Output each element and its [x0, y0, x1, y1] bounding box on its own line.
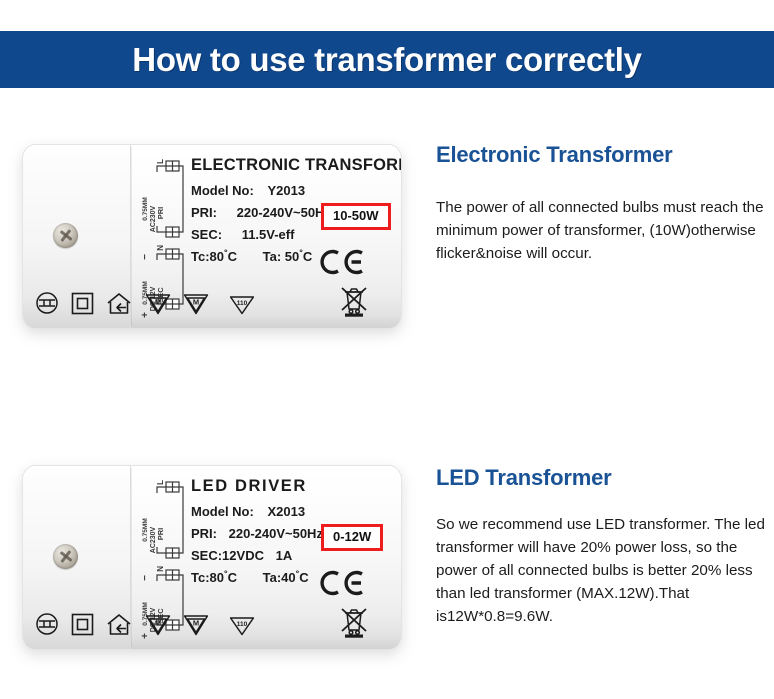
device-pri-value: 220-240V~50Hz [229, 527, 323, 540]
independent-mounting-110-icon: 110 [229, 616, 255, 641]
mounting-icon-mark: 110 [237, 621, 248, 628]
led-transformer-description-text: So we recommend use LED transformer. The… [436, 513, 774, 628]
mounting-screw [53, 544, 78, 569]
ce-mark-icon [318, 570, 370, 596]
device-sec-key: SEC: [191, 228, 222, 241]
device-casing: L N PRI AC230V 0.75MM SEC DC 12V 0.75MM … [22, 465, 402, 650]
device-ambient-temperature: Ta: 50 [263, 250, 300, 263]
device-pri-key: PRI: [191, 527, 217, 540]
wiring-neutral-terminal-label: N [156, 245, 165, 251]
wiring-primary-voltage: AC230V [150, 526, 157, 553]
independent-mounting-110-icon: 110 [229, 295, 255, 320]
transformer-icon-mark-2: M [193, 619, 199, 628]
wiring-line-terminal-label: L [156, 480, 165, 485]
class-ii-double-insulation-icon [71, 613, 94, 641]
device-ambient-temperature: Ta:40 [263, 571, 296, 584]
device-tc-unit: C [228, 249, 237, 264]
mounting-icon-mark: 110 [237, 300, 248, 307]
mounting-screw [53, 223, 78, 248]
wattage-rating-highlight: 10-50W [321, 203, 391, 230]
transformer-icon-mark-1: M [155, 619, 161, 628]
transformer-icon-mark-2: M [193, 298, 199, 307]
class-ii-double-insulation-icon [71, 292, 94, 320]
led-transformer-heading: LED Transformer [436, 466, 612, 490]
transformer-icon-mark-1: M [155, 298, 161, 307]
device-case-temperature: Tc:80 [191, 250, 224, 263]
transformer-safety-m-icon: M [183, 293, 209, 320]
device-sec-value: 1A [276, 549, 293, 562]
device-model-key: Model No: [191, 505, 254, 518]
wattage-rating-highlight: 0-12W [321, 524, 383, 551]
device-model-value: X2013 [267, 505, 305, 518]
wiring-neutral-terminal-label: N [156, 566, 165, 572]
wiring-primary-voltage: AC230V [150, 205, 157, 232]
device-casing: L N PRI AC230V 0.75MM SEC DC 12V 0.75MM … [22, 144, 402, 329]
wiring-primary-label: PRI [156, 207, 165, 220]
compliance-icon-row: M M 110 [35, 291, 255, 320]
thermal-fuse-icon [35, 291, 59, 320]
device-model-row: Model No: Y2013 [191, 184, 399, 197]
wiring-primary-wire-gauge: 0.75MM [142, 518, 149, 541]
weee-crossed-bin-icon [339, 606, 369, 638]
device-sec-value: 11.5V-eff [242, 228, 295, 241]
device-pri-key: PRI: [191, 206, 217, 219]
page-title: How to use transformer correctly [132, 43, 641, 76]
transformer-safety-m-icon: M [145, 614, 171, 641]
electronic-transformer-description: The power of all connected bulbs must re… [436, 196, 774, 265]
indoor-use-only-icon [106, 292, 133, 320]
led-transformer-description: So we recommend use LED transformer. The… [436, 513, 774, 628]
weee-crossed-bin-icon [339, 285, 369, 317]
wiring-primary-label: PRI [156, 528, 165, 541]
wiring-line-terminal-label: L [156, 159, 165, 164]
transformer-safety-m-icon: M [183, 614, 209, 641]
electronic-transformer-device-photo: L N PRI AC230V 0.75MM SEC DC 12V 0.75MM … [22, 144, 402, 329]
device-model-value: Y2013 [267, 184, 305, 197]
device-model-row: Model No: X2013 [191, 505, 399, 518]
wiring-primary-wire-gauge: 0.75MM [142, 197, 149, 220]
ce-mark-icon [318, 249, 370, 275]
thermal-fuse-icon [35, 612, 59, 641]
device-model-key: Model No: [191, 184, 254, 197]
device-ta-unit: C [303, 249, 312, 264]
compliance-icon-row: M M 110 [35, 612, 255, 641]
device-ta-unit: C [299, 570, 308, 585]
device-sec-key: SEC:12VDC [191, 549, 264, 562]
led-driver-device-photo: L N PRI AC230V 0.75MM SEC DC 12V 0.75MM … [22, 465, 402, 650]
indoor-use-only-icon [106, 613, 133, 641]
transformer-safety-m-icon: M [145, 293, 171, 320]
electronic-transformer-description-text: The power of all connected bulbs must re… [436, 196, 774, 265]
device-label-title: ELECTRONIC TRANSFORMER [191, 157, 399, 174]
wiring-negative-terminal-label: − [141, 575, 151, 581]
device-pri-value: 220-240V~50Hz [237, 206, 331, 219]
device-case-temperature: Tc:80 [191, 571, 224, 584]
electronic-transformer-heading: Electronic Transformer [436, 143, 672, 167]
device-tc-unit: C [228, 570, 237, 585]
device-label-title: LED DRIVER [191, 478, 399, 495]
page-header-banner: How to use transformer correctly [0, 31, 774, 88]
wiring-negative-terminal-label: − [141, 254, 151, 260]
